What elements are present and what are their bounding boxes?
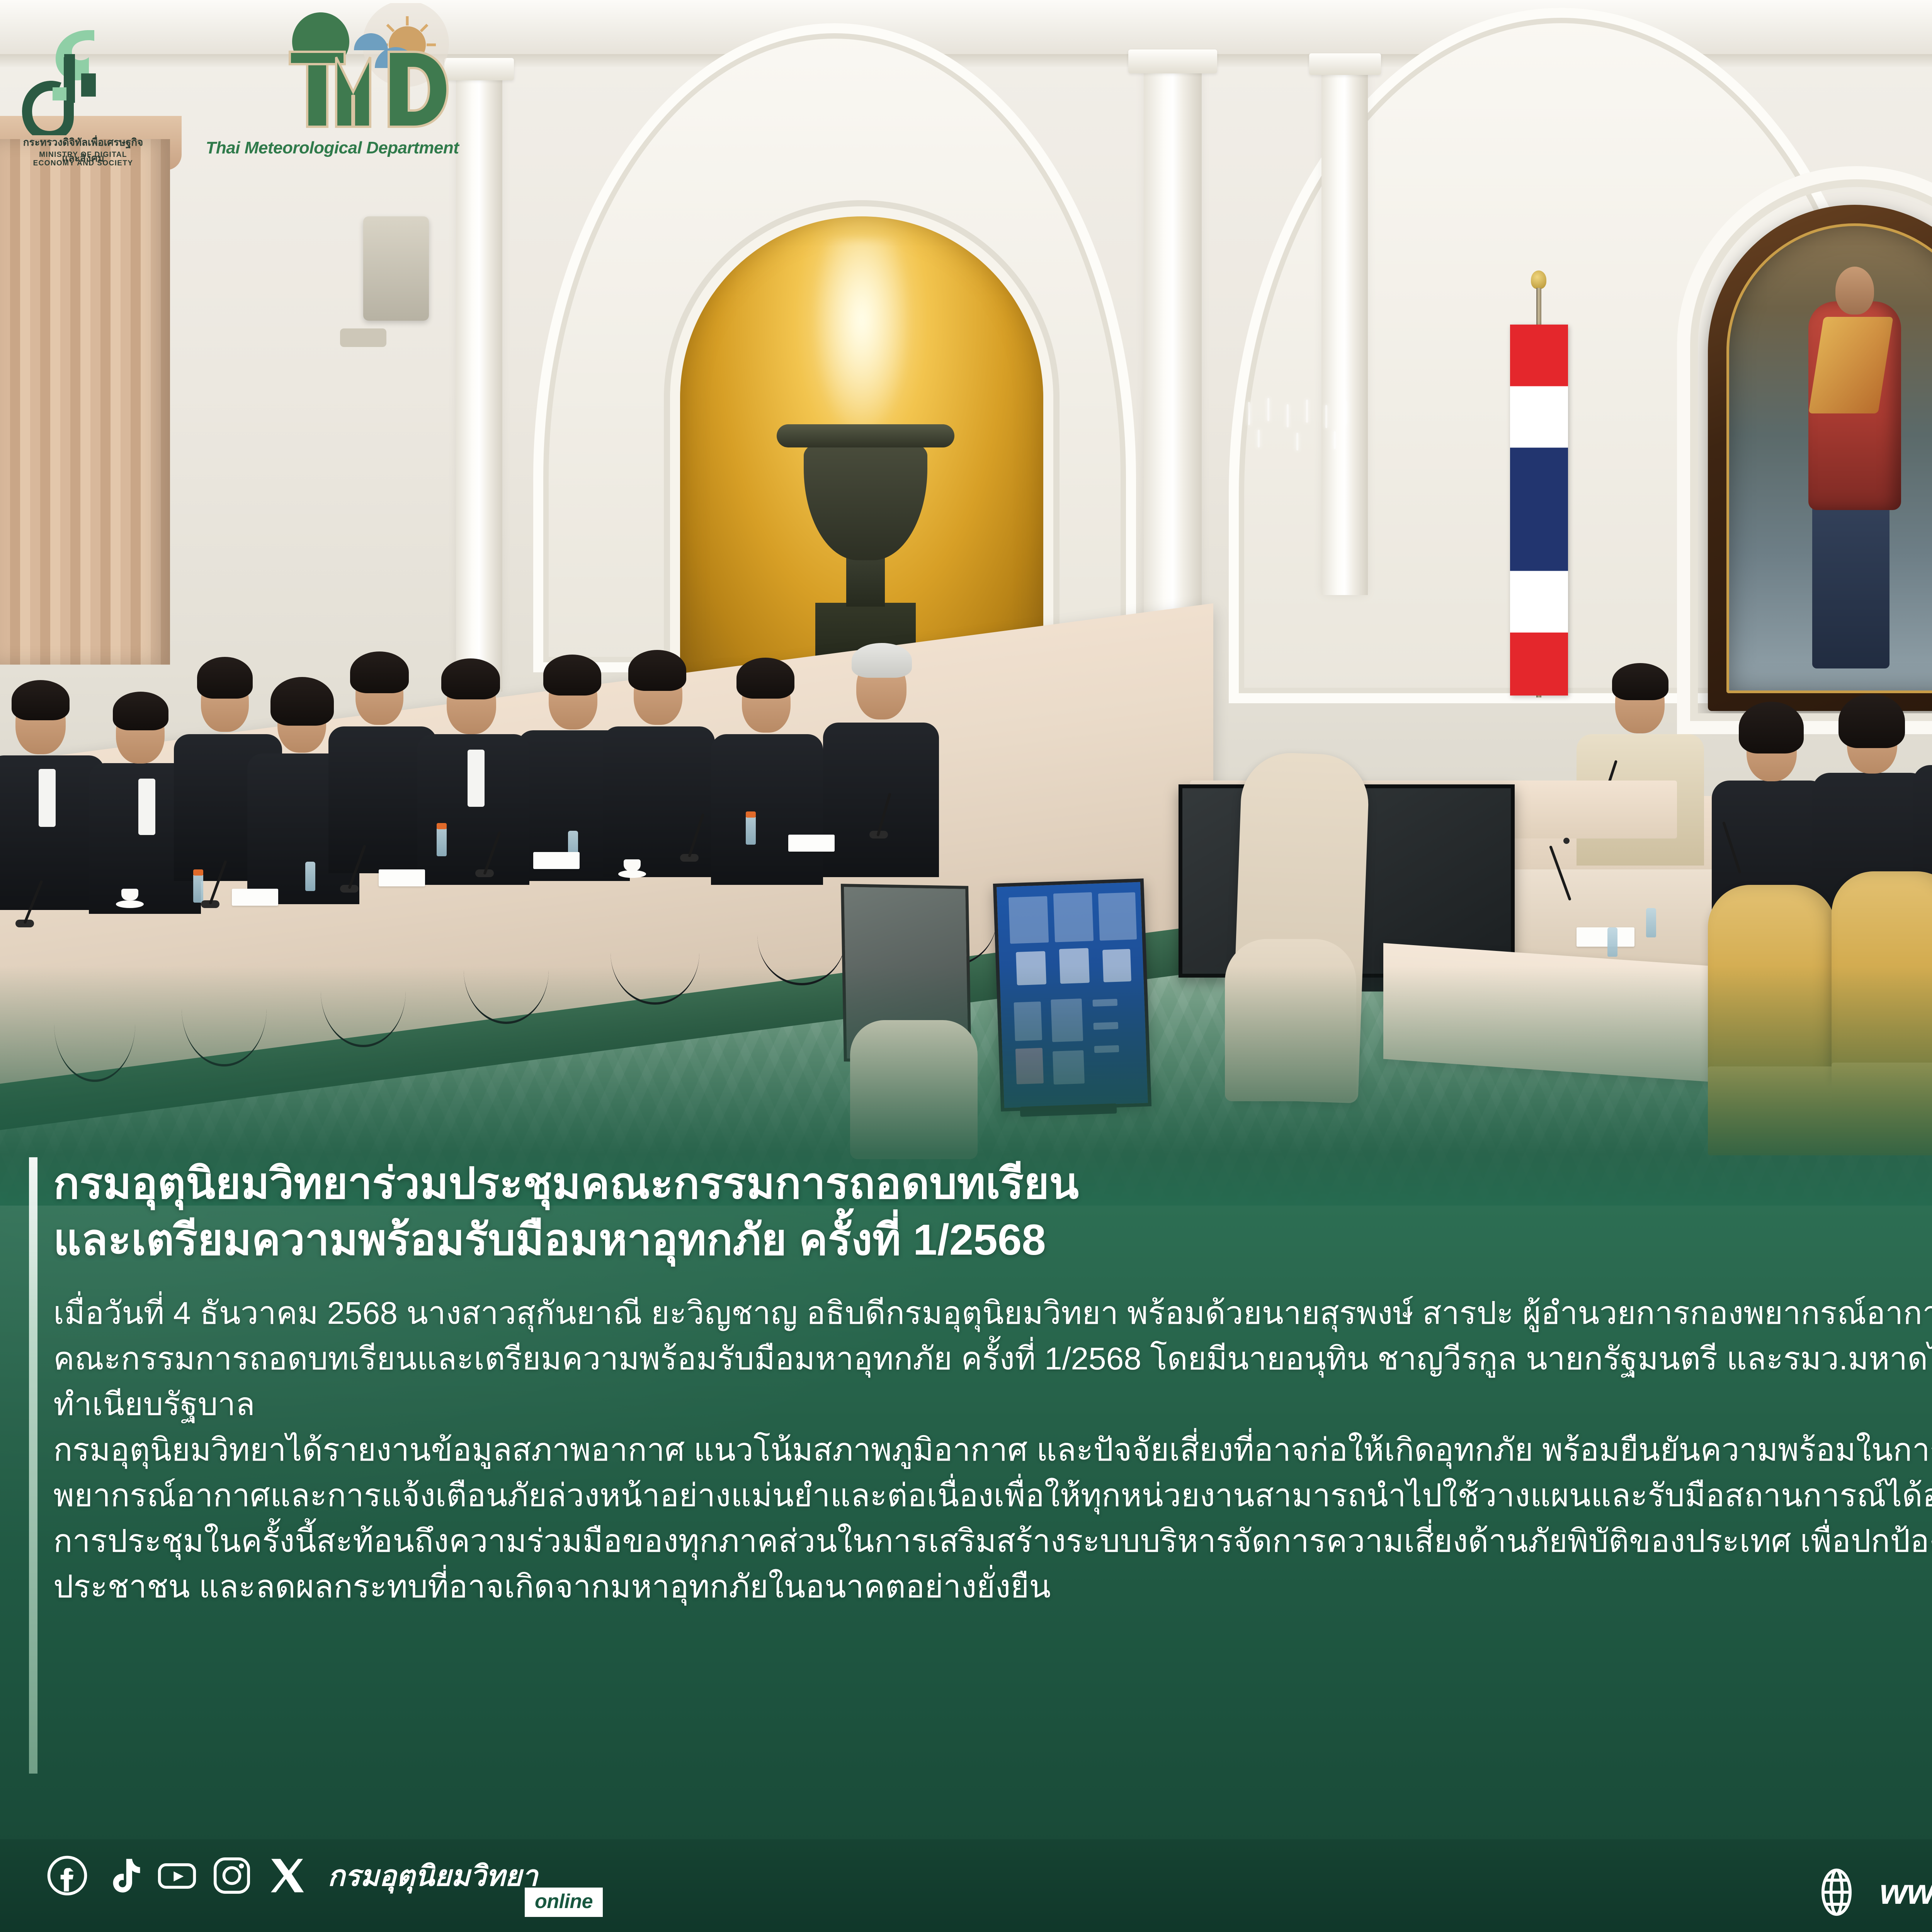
tiktok-icon[interactable] [101,1855,143,1896]
urn-stem [846,553,885,607]
pilaster-capital [1309,53,1381,75]
website-url[interactable]: www.tmd.go.th [1879,1872,1932,1912]
chandelier [1233,398,1364,471]
footer-social-group: กรมอุตุนิยมวิทยา [46,1853,538,1898]
footer-contact-group: www.tmd.go.th 1182 สายด่วน [1811,1851,1932,1932]
de-ministry-logo: กระทรวงดิจิทัลเพื่อเศรษฐกิจและสังคม MINI… [15,12,143,170]
tmd-caption-en: Thai Meteorological Department [178,138,487,158]
article-body: เมื่อวันที่ 4 ธันวาคม 2568 นางสาวสุกันยา… [53,1291,1932,1610]
name-card [232,889,278,906]
name-card [1577,927,1634,947]
ministry-caption-en: MINISTRY OF DIGITAL ECONOMY AND SOCIETY [19,151,147,168]
globe-icon [1811,1867,1862,1917]
headline-line-1: กรมอุตุนิยมวิทยาร่วมประชุมคณะกรรมการถอดบ… [53,1155,1932,1212]
thai-flag-left [1510,325,1568,696]
instagram-icon[interactable] [211,1855,253,1896]
logo-group: กระทรวงดิจิทัลเพื่อเศรษฐกิจและสังคม MINI… [0,0,510,193]
flagpole-finial [1531,270,1546,289]
page-title: กรมอุตุนิยมวิทยาร่วมประชุมคณะกรรมการถอดบ… [53,1155,1932,1268]
name-card [533,852,580,869]
niche-light-glow [811,240,912,440]
poster-root: กรมอุตุนิยมวิทยาร่วมประชุมคณะกรรมการถอดบ… [0,0,1932,1932]
social-handle: กรมอุตุนิยมวิทยา [328,1853,538,1898]
pilaster-capital [1128,49,1217,73]
wall-camera [340,328,386,347]
body-paragraph-1: เมื่อวันที่ 4 ธันวาคม 2568 นางสาวสุกันยา… [53,1291,1932,1427]
body-paragraph-2: กรมอุตุนิยมวิทยาได้รายงานข้อมูลสภาพอากาศ… [53,1427,1932,1519]
body-paragraph-3: การประชุมในครั้งนี้สะท้อนถึงความร่วมมือข… [53,1519,1932,1610]
wall-speaker [363,216,429,321]
name-card [788,835,835,852]
x-twitter-icon[interactable] [266,1855,308,1896]
headline-line-2: และเตรียมความพร้อมรับมือมหาอุทกภัย ครั้ง… [53,1212,1932,1268]
curtain [0,139,170,665]
urn-lip [777,424,954,447]
tmd-logo: Thai Meteorological Department [174,3,495,173]
royal-portrait-painting [1726,223,1932,693]
facebook-icon[interactable] [46,1855,88,1896]
name-card [379,869,425,886]
youtube-icon[interactable] [156,1855,198,1896]
online-badge: online [525,1888,603,1917]
accent-bar [29,1157,37,1774]
pilaster [1321,62,1368,595]
